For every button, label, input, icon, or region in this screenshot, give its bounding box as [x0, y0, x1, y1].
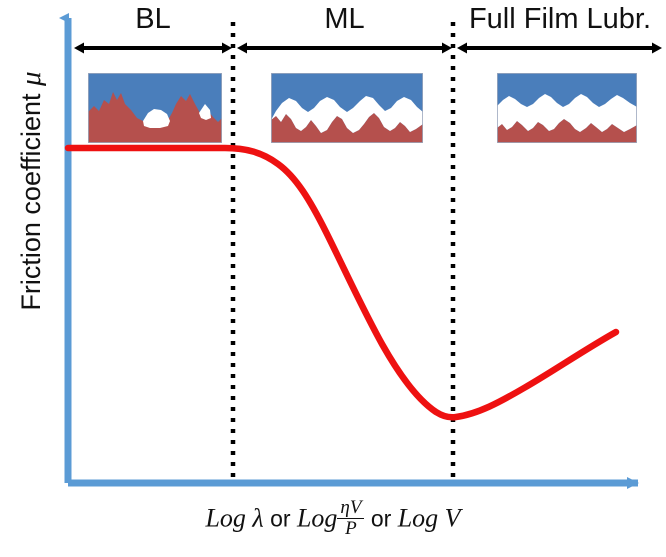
fraction-numerator: ηV	[337, 498, 364, 519]
contact-illustration-ml	[271, 73, 423, 143]
x-axis-label-part2: Log	[297, 503, 337, 532]
y-axis-label-text: Friction coefficient	[16, 86, 46, 311]
y-axis-label-wrapper: Friction coefficient μ	[9, 31, 53, 351]
region-label-bl: BL	[80, 2, 226, 36]
region-label-full-film-lubrication: Full Film Lubr.	[458, 2, 662, 36]
x-axis-label-part1: Log λ	[205, 503, 263, 532]
x-axis-label-fraction: ηVP	[337, 498, 364, 539]
x-axis-label-connector2: or	[364, 505, 397, 531]
fraction-denominator: P	[337, 519, 364, 539]
stribeck-diagram: BL ML Full Film Lubr. Friction coefficie…	[0, 0, 666, 557]
x-axis-label-part3: Log V	[398, 503, 461, 532]
contact-illustration-ffl	[497, 73, 637, 143]
y-axis-label: Friction coefficient μ	[9, 31, 53, 351]
x-axis-label-connector1: or	[264, 505, 297, 531]
contact-illustration-bl	[88, 73, 222, 143]
figure-canvas	[0, 0, 666, 557]
region-label-ml: ML	[243, 2, 446, 36]
mu-symbol: μ	[15, 71, 47, 86]
x-axis-label: Log λ or LogηVP or Log V	[0, 500, 666, 541]
friction-curve	[68, 148, 616, 417]
